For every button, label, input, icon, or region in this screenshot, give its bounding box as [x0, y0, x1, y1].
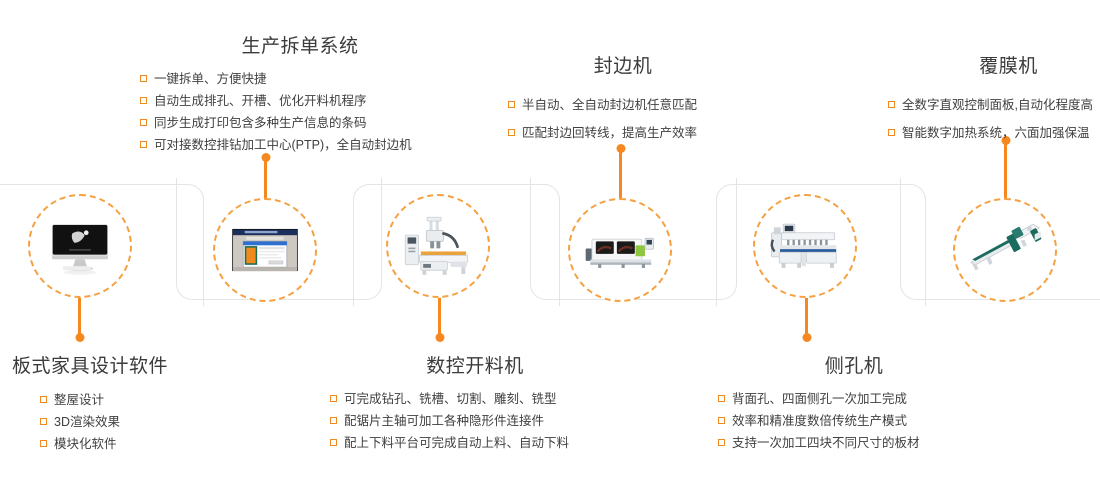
bullet-list: 半自动、全自动封边机任意匹配 匹配封边回转线，提高生产效率 [508, 91, 738, 147]
checkbox-bullet-icon [330, 439, 337, 446]
bullet-item: 配锯片主轴可加工各种隐形件连接件 [330, 410, 620, 432]
checkbox-bullet-icon [508, 129, 515, 136]
checkbox-bullet-icon [718, 395, 725, 402]
text-group-design-software: 板式家具设计软件 整屋设计 3D渲染效果 模块化软件 [12, 356, 202, 455]
group-title: 板式家具设计软件 [12, 356, 202, 379]
checkbox-bullet-icon [718, 417, 725, 424]
bullet-item: 整屋设计 [40, 389, 202, 411]
bullet-item: 可对接数控排钻加工中心(PTP)，全自动封边机 [140, 134, 460, 156]
checkbox-bullet-icon [508, 101, 515, 108]
bullet-list: 背面孔、四面侧孔一次加工完成 效率和精准度数倍传统生产模式 支持一次加工四块不同… [718, 388, 990, 454]
side-drill-icon [766, 207, 844, 285]
bullet-item: 支持一次加工四块不同尺寸的板材 [718, 432, 990, 454]
connector-line-side-hole [805, 292, 808, 338]
bullet-item: 3D渲染效果 [40, 411, 202, 433]
node-software-screen[interactable] [213, 198, 317, 302]
checkbox-bullet-icon [330, 395, 337, 402]
group-title: 生产拆单系统 [140, 36, 460, 59]
laminator-icon [966, 211, 1044, 289]
bullet-item: 半自动、全自动封边机任意匹配 [508, 91, 738, 119]
node-imac-monitor[interactable] [28, 194, 132, 298]
checkbox-bullet-icon [718, 439, 725, 446]
node-edge-bander[interactable] [568, 198, 672, 302]
bullet-item: 智能数字加热系统，六面加强保温 [888, 119, 1100, 147]
connector-line-design-software [78, 292, 81, 338]
group-title: 数控开料机 [330, 356, 620, 379]
group-title: 封边机 [508, 56, 738, 79]
checkbox-bullet-icon [140, 97, 147, 104]
connector-dot [435, 333, 444, 342]
bullet-item: 模块化软件 [40, 433, 202, 455]
connector-line-laminating [1004, 140, 1007, 198]
checkbox-bullet-icon [888, 101, 895, 108]
text-group-split-order-system: 生产拆单系统 一键拆单、方便快捷 自动生成排孔、开槽、优化开料机程序 同步生成打… [140, 36, 460, 156]
group-title: 覆膜机 [914, 56, 1100, 79]
bullet-list: 全数字直观控制面板,自动化程度高 智能数字加热系统，六面加强保温 [888, 91, 1100, 147]
text-group-edge-banding-machine: 封边机 半自动、全自动封边机任意匹配 匹配封边回转线，提高生产效率 [508, 56, 738, 147]
bullet-list: 可完成钻孔、铣槽、切割、雕刻、铣型 配锯片主轴可加工各种隐形件连接件 配上下料平… [330, 388, 620, 454]
imac-monitor-icon [41, 207, 119, 285]
edge-bander-icon [581, 211, 659, 289]
checkbox-bullet-icon [40, 396, 47, 403]
bullet-list: 整屋设计 3D渲染效果 模块化软件 [40, 389, 202, 455]
bullet-item: 效率和精准度数倍传统生产模式 [718, 410, 990, 432]
bullet-item: 全数字直观控制面板,自动化程度高 [888, 91, 1100, 119]
checkbox-bullet-icon [330, 417, 337, 424]
checkbox-bullet-icon [140, 141, 147, 148]
cnc-router-icon [399, 207, 477, 285]
bullet-list: 一键拆单、方便快捷 自动生成排孔、开槽、优化开料机程序 同步生成打印包含多种生产… [140, 68, 460, 156]
node-laminator[interactable] [953, 198, 1057, 302]
bullet-item: 配上下料平台可完成自动上料、自动下料 [330, 432, 620, 454]
checkbox-bullet-icon [40, 440, 47, 447]
group-title: 侧孔机 [718, 356, 990, 379]
checkbox-bullet-icon [888, 129, 895, 136]
bullet-item: 可完成钻孔、铣槽、切割、雕刻、铣型 [330, 388, 620, 410]
bullet-item: 匹配封边回转线，提高生产效率 [508, 119, 738, 147]
connector-dot [75, 333, 84, 342]
connector-dot [802, 333, 811, 342]
checkbox-bullet-icon [140, 75, 147, 82]
node-side-drill[interactable] [753, 194, 857, 298]
checkbox-bullet-icon [40, 418, 47, 425]
connector-line-edge-banding [619, 148, 622, 198]
connector-line-split-order [264, 157, 267, 199]
process-flow-infographic: 生产拆单系统 一键拆单、方便快捷 自动生成排孔、开槽、优化开料机程序 同步生成打… [0, 0, 1100, 495]
text-group-laminating-machine: 覆膜机 全数字直观控制面板,自动化程度高 智能数字加热系统，六面加强保温 [888, 56, 1100, 147]
node-cnc-router[interactable] [386, 194, 490, 298]
bullet-item: 一键拆单、方便快捷 [140, 68, 460, 90]
bullet-item: 自动生成排孔、开槽、优化开料机程序 [140, 90, 460, 112]
bullet-item: 同步生成打印包含多种生产信息的条码 [140, 112, 460, 134]
text-group-cnc-cutting-machine: 数控开料机 可完成钻孔、铣槽、切割、雕刻、铣型 配锯片主轴可加工各种隐形件连接件… [330, 356, 620, 454]
text-group-side-hole-machine: 侧孔机 背面孔、四面侧孔一次加工完成 效率和精准度数倍传统生产模式 支持一次加工… [718, 356, 990, 454]
checkbox-bullet-icon [140, 119, 147, 126]
bullet-item: 背面孔、四面侧孔一次加工完成 [718, 388, 990, 410]
software-screen-icon [226, 211, 304, 289]
connector-line-cnc-cutting [438, 292, 441, 338]
